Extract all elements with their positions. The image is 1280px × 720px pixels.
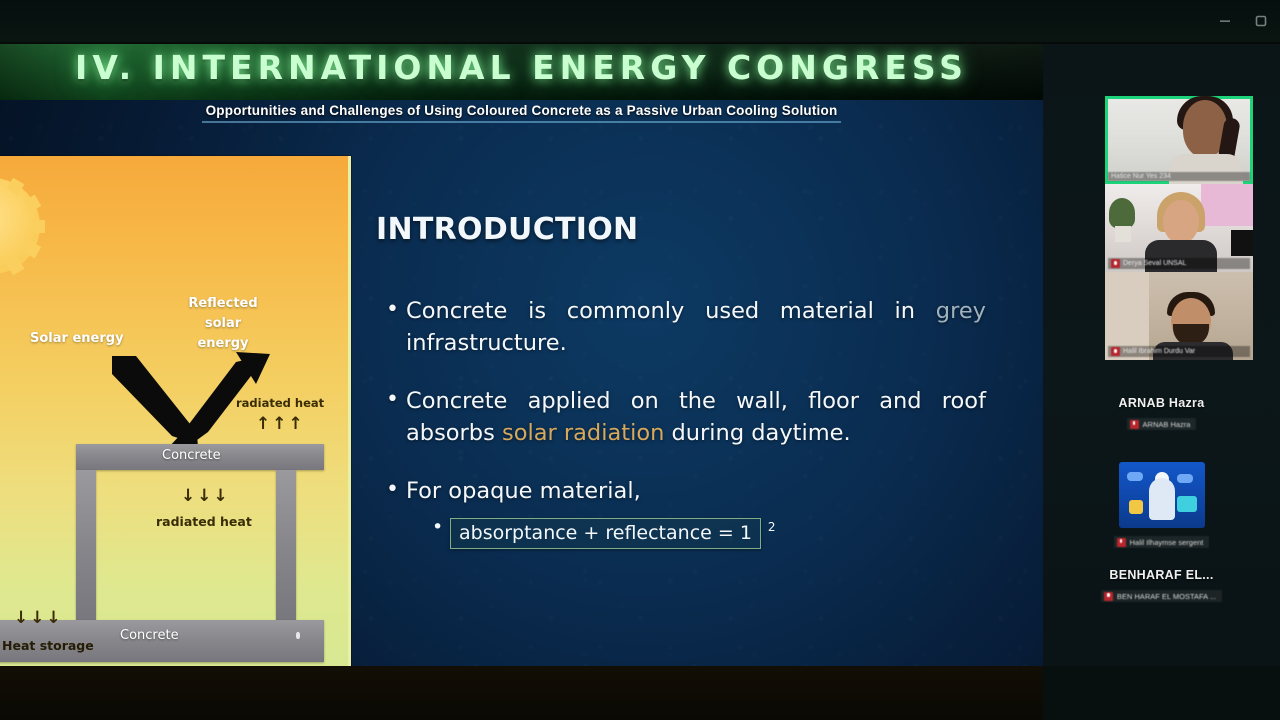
congress-title: IV. INTERNATIONAL ENERGY CONGRESS bbox=[0, 48, 1043, 87]
participant-name-benharaf: BENHARAF EL... bbox=[1043, 568, 1280, 582]
muted-mic-icon bbox=[1130, 420, 1139, 429]
formula-citation-superscript: 2 bbox=[768, 520, 776, 534]
muted-mic-icon bbox=[1117, 538, 1126, 547]
bullet-1-part-3: infrastructure. bbox=[406, 330, 567, 356]
window-controls bbox=[1216, 12, 1270, 30]
formula-box: absorptance + reflectance = 1 bbox=[450, 518, 761, 549]
sub-bullet-formula-row: absorptance + reflectance = 12 bbox=[432, 518, 986, 549]
rail-footer-strip bbox=[1043, 666, 1280, 720]
avatar-head bbox=[1163, 200, 1199, 244]
muted-mic-icon bbox=[1104, 592, 1113, 601]
tile-3-label: Halil Ibrahim Durdu Var bbox=[1123, 348, 1195, 355]
avatar-decor-chip-3 bbox=[1129, 500, 1143, 514]
bullet-1-part-1: Concrete is commonly used material in bbox=[406, 298, 936, 324]
video-tile-2-name: Derya Seval UNSAL bbox=[1108, 258, 1250, 269]
plant-pot-decor bbox=[1115, 226, 1131, 242]
page-title: INTRODUCTION bbox=[376, 212, 638, 247]
presentation-subtitle: Opportunities and Challenges of Using Co… bbox=[202, 103, 842, 123]
tile-2-side-overlay bbox=[1231, 230, 1253, 256]
label-radiated-heat-interior: radiated heat bbox=[156, 514, 252, 529]
shared-slide[interactable]: IV. INTERNATIONAL ENERGY CONGRESS Opport… bbox=[0, 44, 1043, 666]
video-tile-stack: Hatice Nur Yes 234 Derya Seval UNSAL bbox=[1105, 96, 1253, 360]
plant-decor bbox=[1109, 198, 1135, 228]
window-titlebar bbox=[0, 0, 1280, 42]
participant-avatar-image bbox=[1119, 462, 1205, 528]
bullet-1-highlight-grey: grey bbox=[936, 298, 986, 324]
bullet-2-part-3: during daytime. bbox=[664, 420, 850, 446]
radiated-heat-down-arrows-icon: ↓↓↓ bbox=[181, 486, 230, 506]
participant-badge-arnab: ARNAB Hazra bbox=[1127, 418, 1197, 430]
window-footer-strip bbox=[0, 666, 1043, 720]
bullet-3-text: For opaque material, bbox=[406, 478, 641, 504]
avatar-decor-chip-4 bbox=[1177, 496, 1197, 512]
participant-badge-label-avatar: Halil Ilhaymse sergent bbox=[1130, 538, 1204, 547]
congress-banner: IV. INTERNATIONAL ENERGY CONGRESS bbox=[0, 44, 1043, 100]
participant-badge-label-arnab: ARNAB Hazra bbox=[1143, 420, 1191, 429]
tile-1-label: Hatice Nur Yes 234 bbox=[1111, 173, 1171, 180]
avatar-decor-chip-1 bbox=[1127, 472, 1143, 481]
radiated-heat-up-arrows-icon: ↑↑↑ bbox=[256, 414, 305, 434]
video-tile-1-name: Hatice Nur Yes 234 bbox=[1108, 172, 1250, 181]
muted-mic-icon bbox=[1111, 347, 1120, 356]
concrete-column-left bbox=[76, 470, 96, 622]
participant-entry-benharaf[interactable]: BENHARAF EL... BEN HARAF EL MOSTAFA ... bbox=[1043, 568, 1280, 606]
bullet-item-1: Concrete is commonly used material in gr… bbox=[386, 296, 986, 360]
sun-rays-icon bbox=[0, 178, 40, 274]
participant-badge-avatar: Halil Ilhaymse sergent bbox=[1114, 536, 1210, 548]
participant-badge-benharaf: BEN HARAF EL MOSTAFA ... bbox=[1101, 590, 1222, 602]
video-tile-3[interactable]: Halil Ibrahim Durdu Var bbox=[1105, 272, 1253, 360]
tile-2-background-accent bbox=[1201, 184, 1253, 226]
label-concrete-floor: Concrete bbox=[120, 628, 179, 643]
meeting-screen-share-window: IV. INTERNATIONAL ENERGY CONGRESS Opport… bbox=[0, 0, 1280, 720]
avatar-figure-body bbox=[1149, 478, 1175, 520]
participant-badge-label-benharaf: BEN HARAF EL MOSTAFA ... bbox=[1117, 592, 1216, 601]
muted-mic-icon bbox=[1111, 259, 1120, 268]
label-solar-energy: Solar energy bbox=[30, 331, 124, 346]
video-tile-3-name: Halil Ibrahim Durdu Var bbox=[1108, 346, 1250, 357]
video-tile-2[interactable]: Derya Seval UNSAL bbox=[1105, 184, 1253, 272]
avatar-decor-chip-2 bbox=[1177, 474, 1193, 483]
tile-2-label: Derya Seval UNSAL bbox=[1123, 260, 1186, 267]
bullet-item-2: Concrete applied on the wall, floor and … bbox=[386, 386, 986, 450]
maximize-icon[interactable] bbox=[1252, 12, 1270, 30]
participant-name-arnab: ARNAB Hazra bbox=[1043, 396, 1280, 410]
concrete-column-right bbox=[276, 470, 296, 622]
label-reflected-solar-energy: Reflected solar energy bbox=[178, 294, 268, 354]
bullet-list: Concrete is commonly used material in gr… bbox=[386, 296, 986, 549]
floor-marker-dot bbox=[296, 632, 300, 639]
participant-entry-avatar[interactable]: Halil Ilhaymse sergent bbox=[1043, 462, 1280, 552]
heat-storage-arrows-icon: ↓↓↓ bbox=[14, 608, 63, 628]
label-radiated-heat-top: radiated heat bbox=[236, 396, 324, 410]
label-concrete-roof: Concrete bbox=[162, 448, 221, 463]
label-heat-storage: Heat storage bbox=[2, 638, 94, 653]
minimize-icon[interactable] bbox=[1216, 12, 1234, 30]
participant-entry-arnab[interactable]: ARNAB Hazra ARNAB Hazra bbox=[1043, 396, 1280, 434]
bullet-item-3: For opaque material, bbox=[386, 476, 986, 508]
participant-rail: Hatice Nur Yes 234 Derya Seval UNSAL bbox=[1043, 44, 1280, 666]
video-tile-1[interactable]: Hatice Nur Yes 234 bbox=[1105, 96, 1253, 184]
banner-subtitle-wrap: Opportunities and Challenges of Using Co… bbox=[0, 102, 1043, 123]
bullet-2-highlight-gold: solar radiation bbox=[502, 420, 664, 446]
heat-transfer-diagram: Solar energy Reflected solar energy radi… bbox=[0, 156, 351, 666]
